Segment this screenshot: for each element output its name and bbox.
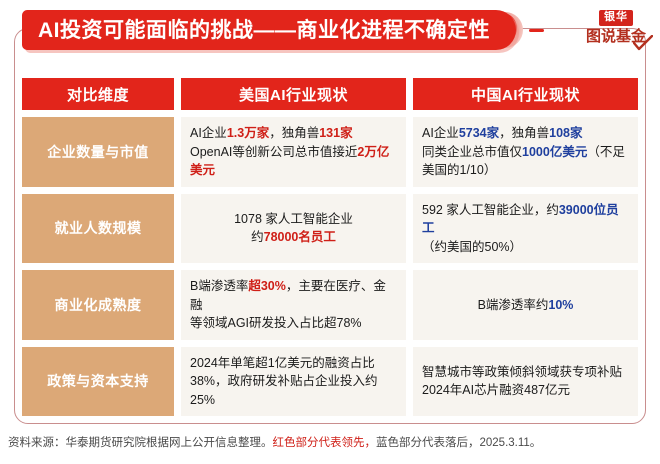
- header-cell-us: 美国AI行业现状: [181, 78, 406, 110]
- table-row: 企业数量与市值AI企业1.3万家，独角兽131家OpenAI等创新公司总市值接近…: [22, 117, 638, 187]
- text-segment: AI企业: [190, 126, 227, 140]
- page-title: AI投资可能面临的挑战——商业化进程不确定性: [38, 20, 490, 41]
- cell-us: AI企业1.3万家，独角兽131家OpenAI等创新公司总市值接近2万亿美元: [181, 117, 406, 187]
- text-segment: 同类企业总市值仅: [422, 145, 522, 159]
- cell-us: B端渗透率超30%，主要在医疗、金融等领域AGI研发投入占比超78%: [181, 270, 406, 340]
- cell-cn: 智慧城市等政策倾斜领域获专项补贴2024年AI芯片融资487亿元: [413, 347, 638, 417]
- brand-name-wrap: 图说基金: [580, 27, 652, 49]
- brand-name: 图说基金: [580, 27, 652, 47]
- cell-cn: B端渗透率约10%: [413, 270, 638, 340]
- footnote-suffix: 蓝色部分代表落后，2025.3.11。: [376, 437, 541, 449]
- highlight-red: 1.3万家: [227, 126, 269, 140]
- cell-line: 等领域AGI研发投入占比超78%: [190, 314, 362, 333]
- cell-line: 智慧城市等政策倾斜领域获专项补贴: [422, 363, 622, 382]
- title-pill: AI投资可能面临的挑战——商业化进程不确定性: [22, 10, 516, 50]
- title-dash-decoration: [529, 29, 544, 32]
- highlight-blue: 10%: [548, 298, 573, 312]
- table-row: 就业人数规模1078 家人工智能企业约78000名员工592 家人工智能企业，约…: [22, 194, 638, 264]
- footnote-prefix: 资料来源：华泰期货研究院根据网上公开信息整理。: [8, 437, 273, 449]
- cell-line: AI企业5734家，独角兽108家: [422, 124, 583, 143]
- header-cell-dimension: 对比维度: [22, 78, 174, 110]
- table-header-row: 对比维度 美国AI行业现状 中国AI行业现状: [22, 78, 638, 110]
- text-segment: 2024年AI芯片融资487亿元: [422, 383, 570, 397]
- text-segment: 智慧城市等政策倾斜领域获专项补贴: [422, 365, 622, 379]
- table-body: 企业数量与市值AI企业1.3万家，独角兽131家OpenAI等创新公司总市值接近…: [22, 117, 638, 416]
- brand-badge: 银华: [599, 10, 633, 26]
- cell-line: AI企业1.3万家，独角兽131家: [190, 124, 353, 143]
- cell-line: B端渗透率超30%，主要在医疗、金融: [190, 277, 397, 314]
- highlight-blue: 108家: [549, 126, 582, 140]
- text-segment: 592 家人工智能企业，约: [422, 203, 559, 217]
- highlight-red: 超30%: [248, 279, 286, 293]
- footnote-red-note: 红色部分代表领先，: [273, 437, 377, 449]
- text-segment: ，独角兽: [499, 126, 549, 140]
- comparison-table: 对比维度 美国AI行业现状 中国AI行业现状 企业数量与市值AI企业1.3万家，…: [22, 78, 638, 423]
- dimension-label: 政策与资本支持: [22, 347, 174, 417]
- text-segment: ，独角兽: [269, 126, 319, 140]
- text-segment: 2024年单笔超1亿美元的融资占比: [190, 356, 375, 370]
- cell-cn: AI企业5734家，独角兽108家同类企业总市值仅1000亿美元（不足美国的1/…: [413, 117, 638, 187]
- cell-line: 2024年AI芯片融资487亿元: [422, 381, 570, 400]
- dimension-label: 商业化成熟度: [22, 270, 174, 340]
- text-segment: 等领域AGI研发投入占比超78%: [190, 316, 362, 330]
- cell-line: 38%，政府研发补贴占企业投入约25%: [190, 372, 397, 409]
- dimension-label: 企业数量与市值: [22, 117, 174, 187]
- highlight-red: 131家: [319, 126, 352, 140]
- cell-us: 1078 家人工智能企业约78000名员工: [181, 194, 406, 264]
- cell-cn: 592 家人工智能企业，约39000位员工（约美国的50%）: [413, 194, 638, 264]
- highlight-red: 78000名员工: [264, 230, 336, 244]
- text-segment: 约: [251, 230, 264, 244]
- highlight-blue: 1000亿美元: [522, 145, 587, 159]
- dimension-label: 就业人数规模: [22, 194, 174, 264]
- cell-line: （约美国的50%）: [422, 238, 522, 257]
- cell-line: 约78000名员工: [251, 228, 336, 247]
- source-footnote: 资料来源：华泰期货研究院根据网上公开信息整理。红色部分代表领先，蓝色部分代表落后…: [8, 434, 652, 450]
- cell-line: 592 家人工智能企业，约39000位员工: [422, 201, 629, 238]
- cell-line: B端渗透率约10%: [478, 296, 574, 315]
- text-segment: B端渗透率: [190, 279, 248, 293]
- text-segment: 1078 家人工智能企业: [234, 212, 353, 226]
- cell-line: 1078 家人工智能企业: [234, 210, 353, 229]
- text-segment: （约美国的50%）: [422, 240, 522, 254]
- table-row: 商业化成熟度B端渗透率超30%，主要在医疗、金融等领域AGI研发投入占比超78%…: [22, 270, 638, 340]
- title-banner: AI投资可能面临的挑战——商业化进程不确定性: [22, 10, 544, 50]
- brand-logo: 银华 图说基金: [580, 7, 652, 53]
- highlight-blue: 5734家: [459, 126, 499, 140]
- table-row: 政策与资本支持2024年单笔超1亿美元的融资占比38%，政府研发补贴占企业投入约…: [22, 347, 638, 417]
- cell-line: 同类企业总市值仅1000亿美元（不足美国的1/10）: [422, 143, 629, 180]
- cell-line: OpenAI等创新公司总市值接近2万亿美元: [190, 143, 397, 180]
- cell-us: 2024年单笔超1亿美元的融资占比38%，政府研发补贴占企业投入约25%: [181, 347, 406, 417]
- header-cell-cn: 中国AI行业现状: [413, 78, 638, 110]
- cell-line: 2024年单笔超1亿美元的融资占比: [190, 354, 375, 373]
- text-segment: OpenAI等创新公司总市值接近: [190, 145, 357, 159]
- text-segment: B端渗透率约: [478, 298, 549, 312]
- text-segment: AI企业: [422, 126, 459, 140]
- text-segment: 38%，政府研发补贴占企业投入约25%: [190, 374, 378, 407]
